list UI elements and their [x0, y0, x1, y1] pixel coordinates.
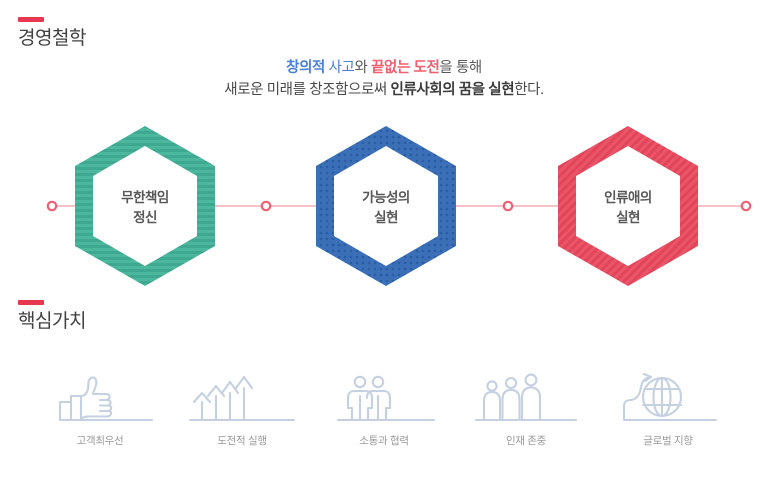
hexagon-node-2[interactable]: 가능성의 실현 — [311, 120, 463, 292]
core-value-label-3: 소통과 협력 — [359, 433, 408, 448]
thumbs-up-icon — [30, 372, 170, 424]
tagline-seg-newfuture: 새로운 미래를 창조함으로써 — [224, 82, 390, 98]
hexagon-2-label-line2: 실현 — [374, 210, 398, 225]
hexagon-1-label-line2: 정신 — [133, 209, 157, 225]
tagline-seg-thinking: 사고 — [325, 60, 355, 76]
connector-dot-end — [742, 202, 750, 210]
hexagon-node-1[interactable]: 무한책임 정신 — [70, 120, 222, 292]
philosophy-hexagon-diagram: 무한책임 정신 가능성의 실현 인류애의 실현 — [0, 110, 768, 295]
heading-accent-bar — [18, 300, 44, 305]
core-value-label-2: 도전적 실행 — [217, 433, 266, 448]
core-value-item-2[interactable]: 도전적 실행 — [172, 372, 312, 462]
rising-arrows-icon — [172, 372, 312, 424]
core-value-item-4[interactable]: 인재 존중 — [456, 372, 596, 462]
tagline-line-2: 새로운 미래를 창조함으로써 인류사회의 꿈을 실현한다. — [0, 79, 768, 101]
philosophy-title: 경영철학 — [18, 29, 86, 50]
connector-dot-mid-1 — [262, 202, 270, 210]
core-value-item-3[interactable]: 소통과 협력 — [314, 372, 454, 462]
tagline-seg-and: 와 — [354, 60, 371, 76]
philosophy-tagline: 창의적 사고와 끝없는 도전을 통해 새로운 미래를 창조함으로써 인류사회의 … — [0, 57, 768, 102]
core-value-item-5[interactable]: 글로벌 지향 — [598, 372, 738, 462]
philosophy-section-heading: 경영철학 — [18, 17, 86, 50]
hexagon-2-label-line1: 가능성의 — [362, 189, 410, 205]
tagline-seg-challenge: 끝없는 도전 — [371, 60, 439, 76]
globe-arrow-icon — [598, 372, 738, 424]
connector-dot-mid-2 — [504, 202, 512, 210]
three-people-icon — [456, 372, 596, 424]
core-values-row: 고객최우선 도전적 실행 — [0, 372, 768, 462]
connector-dot-start — [48, 202, 56, 210]
hexagon-1-label-line1: 무한책임 — [121, 190, 169, 205]
tagline-seg-creative: 창의적 — [286, 60, 325, 76]
tagline-seg-dream: 인류사회의 꿈을 실현 — [390, 82, 514, 98]
core-value-label-4: 인재 존중 — [506, 433, 546, 448]
core-value-label-5: 글로벌 지향 — [643, 433, 692, 448]
core-values-title: 핵심가치 — [18, 312, 86, 333]
core-value-label-1: 고객최우선 — [77, 433, 124, 448]
core-value-item-1[interactable]: 고객최우선 — [30, 372, 170, 462]
tagline-seg-through: 을 통해 — [439, 60, 481, 76]
tagline-line-1: 창의적 사고와 끝없는 도전을 통해 — [0, 57, 768, 79]
heading-accent-bar — [18, 17, 44, 22]
core-values-section-heading: 핵심가치 — [18, 300, 86, 333]
hexagon-3-label-line1: 인류애의 — [604, 189, 652, 205]
hexagon-3-label-line2: 실현 — [616, 210, 640, 225]
two-people-icon — [314, 372, 454, 424]
hexagon-node-3[interactable]: 인류애의 실현 — [553, 120, 705, 292]
tagline-seg-suffix: 한다. — [514, 82, 544, 98]
